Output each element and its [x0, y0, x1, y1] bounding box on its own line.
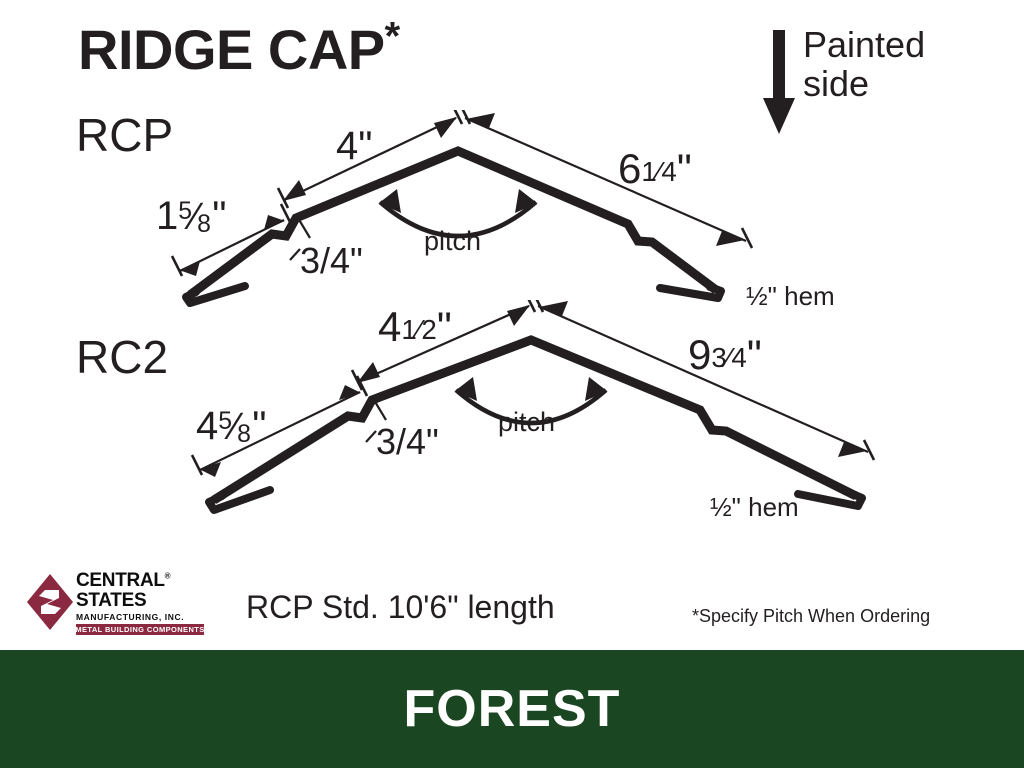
rc2-dim-label-left-leg: 45⁄8" [196, 406, 266, 446]
central-states-logo: CENTRAL® STATES MANUFACTURING, INC. META… [26, 571, 202, 633]
std-length-note: RCP Std. 10'6" length [246, 589, 555, 626]
color-name-label: FOREST [404, 679, 621, 739]
rc2-right-ridge-num: 3 [711, 342, 726, 373]
rcp-dim-label-left-leg: 15⁄8" [156, 196, 226, 236]
rc2-left-leg-whole: 4 [196, 404, 218, 448]
rc2-profile-drawing [0, 300, 940, 530]
rc2-left-ridge-unit: " [437, 303, 452, 350]
rc2-dim-label-left-step: 3/4" [376, 424, 439, 460]
page-title-text: RIDGE CAP [78, 18, 385, 81]
rc2-left-leg-unit: " [252, 404, 266, 448]
logo-registered-mark: ® [165, 572, 171, 581]
rcp-right-ridge-whole: 6 [618, 145, 641, 192]
rc2-left-ridge-num: 1 [401, 314, 416, 345]
rc2-left-leg-den: 8 [237, 421, 251, 448]
rc2-right-ridge-whole: 9 [688, 331, 711, 378]
rc2-dim-label-right-ridge: 93⁄4" [688, 334, 762, 376]
title-asterisk: * [385, 14, 400, 58]
rc2-hem-label: ½" hem [710, 492, 799, 523]
rc2-dim-right-ridge [533, 300, 874, 460]
rcp-left-leg-unit: " [212, 194, 226, 238]
logo-line-manufacturing: MANUFACTURING, INC. [76, 612, 204, 622]
logo-line-states: STATES [76, 591, 204, 610]
rcp-right-ridge-unit: " [677, 145, 692, 192]
rcp-left-leg-whole: 1 [156, 194, 178, 238]
page-title: RIDGE CAP* [78, 22, 400, 78]
rcp-dim-label-right-ridge: 61⁄4" [618, 148, 692, 190]
rc2-left-ridge-whole: 4 [378, 303, 401, 350]
rcp-right-ridge-den: 4 [661, 156, 676, 187]
slide-canvas: RIDGE CAP* Painted side RCP [0, 0, 1024, 768]
logo-tagline-bar: METAL BUILDING COMPONENTS [76, 624, 204, 635]
rc2-pitch-label: pitch [498, 407, 555, 438]
logo-s-diamond-icon [26, 573, 74, 631]
logo-tagline: METAL BUILDING COMPONENTS [75, 625, 204, 634]
rcp-dim-label-left-ridge: 4" [336, 126, 372, 166]
painted-side-label: Painted side [803, 26, 925, 104]
color-name-banner: FOREST [0, 650, 1024, 768]
logo-wordmark: CENTRAL® STATES MANUFACTURING, INC. META… [76, 571, 204, 635]
painted-side-line2: side [803, 65, 925, 104]
rc2-right-ridge-unit: " [747, 331, 762, 378]
painted-side-line1: Painted [803, 26, 925, 65]
rc2-right-ridge-den: 4 [731, 342, 746, 373]
rc2-right-hem [798, 493, 862, 506]
rcp-dim-right-ridge [460, 110, 752, 248]
rcp-left-leg-den: 8 [197, 211, 211, 238]
rcp-dim-label-left-step: 3/4" [300, 243, 363, 279]
rcp-pitch-label: pitch [424, 226, 481, 257]
rcp-left-leg-num: 5 [178, 198, 192, 225]
specify-pitch-note: *Specify Pitch When Ordering [692, 606, 930, 627]
rcp-right-ridge-num: 1 [641, 156, 656, 187]
rc2-left-leg-num: 5 [218, 408, 232, 435]
rc2-dim-label-left-ridge: 41⁄2" [378, 306, 452, 348]
logo-line-central: CENTRAL® [76, 571, 204, 590]
rc2-left-ridge-den: 2 [421, 314, 436, 345]
